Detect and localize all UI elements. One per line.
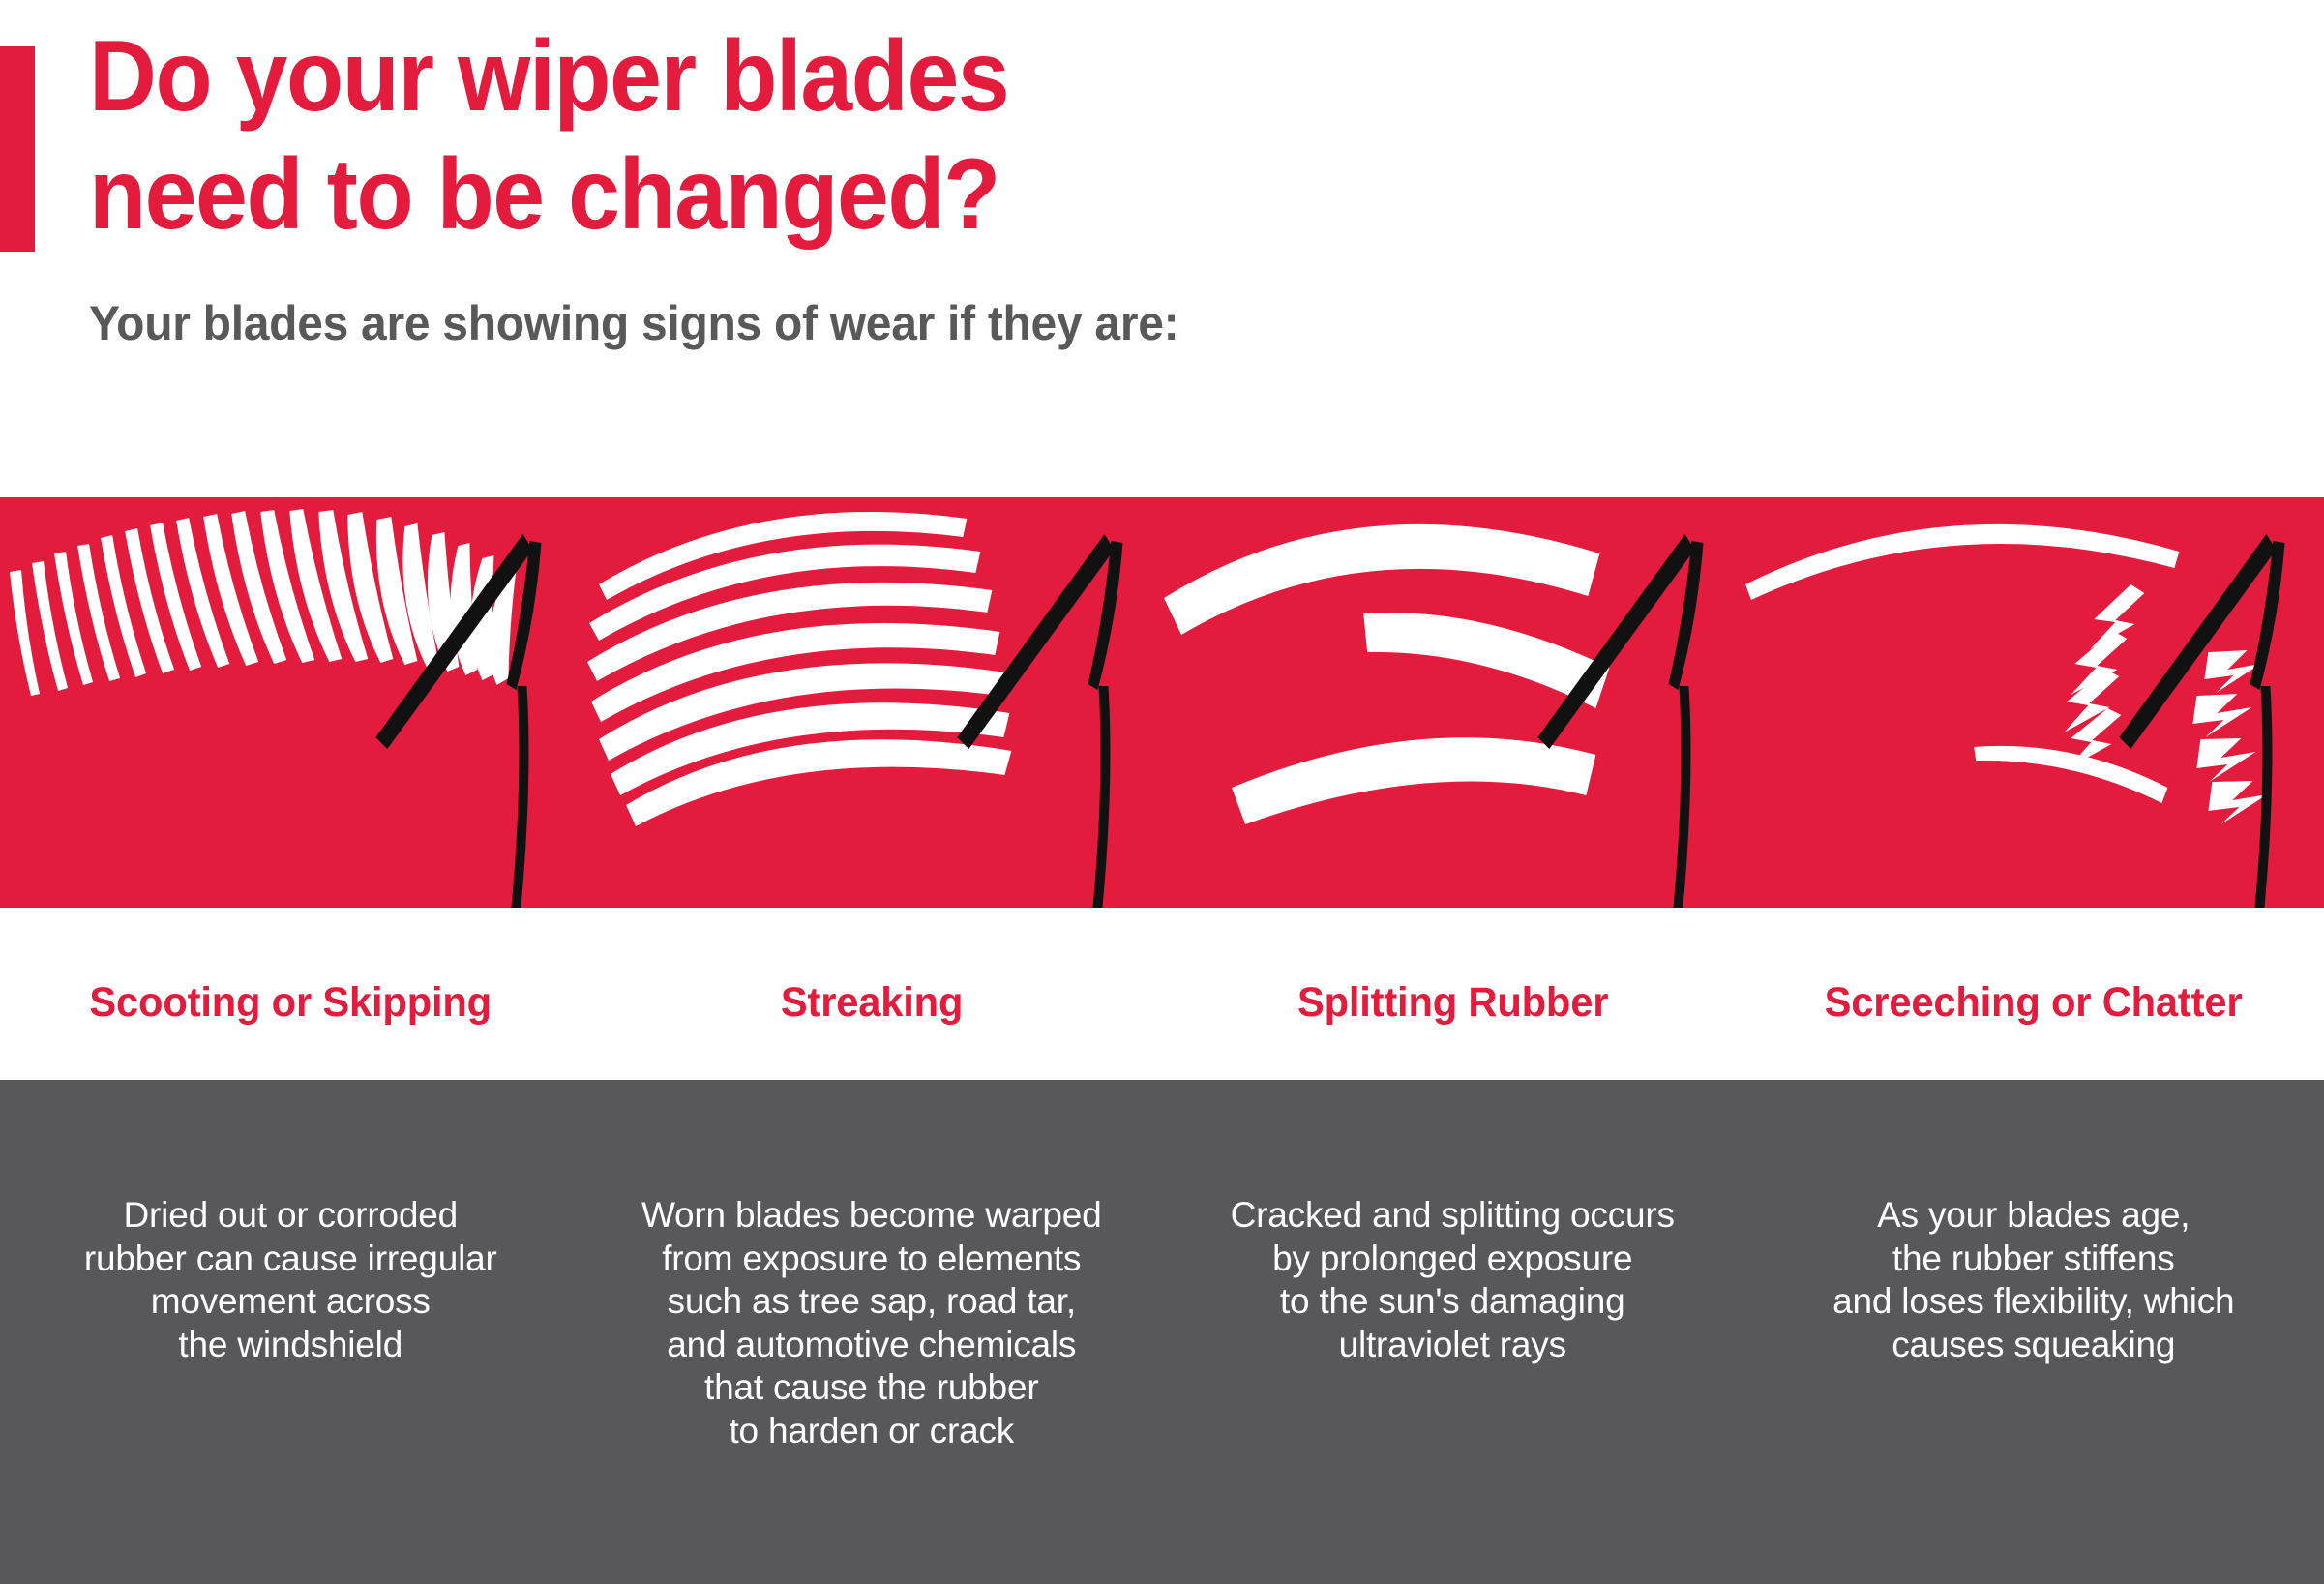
description-cell-screeching-or-chatter: As your blades age, the rubber stiffens … <box>1743 1080 2324 1584</box>
page-title: Do your wiper blades need to be changed? <box>89 17 1008 254</box>
illustration-splitting-rubber <box>1162 497 1743 908</box>
red-accent-bar <box>0 46 35 252</box>
page-subtitle: Your blades are showing signs of wear if… <box>89 295 1178 351</box>
description-streaking: Worn blades become warped from exposure … <box>641 1194 1102 1584</box>
illustration-streaking <box>581 497 1163 908</box>
infographic-page: Do your wiper blades need to be changed?… <box>0 0 2324 1584</box>
label-cell-screeching-or-chatter: Screeching or Chatter <box>1743 908 2324 1080</box>
label-streaking: Streaking <box>781 979 963 1027</box>
description-screeching-or-chatter: As your blades age, the rubber stiffens … <box>1832 1194 2234 1584</box>
illustration-screeching-or-chatter <box>1743 497 2324 908</box>
label-cell-scooting-or-skipping: Scooting or Skipping <box>0 908 581 1080</box>
description-scooting-or-skipping: Dried out or corroded rubber can cause i… <box>84 1194 497 1584</box>
illustration-scooting-or-skipping <box>0 497 581 908</box>
description-band: Dried out or corroded rubber can cause i… <box>0 1080 2324 1584</box>
label-screeching-or-chatter: Screeching or Chatter <box>1825 979 2243 1027</box>
header-section: Do your wiper blades need to be changed?… <box>0 0 2324 497</box>
description-cell-scooting-or-skipping: Dried out or corroded rubber can cause i… <box>0 1080 581 1584</box>
description-splitting-rubber: Cracked and splitting occurs by prolonge… <box>1231 1194 1675 1584</box>
thick-arcs-icon <box>1162 497 1743 908</box>
radial-streaks-icon <box>0 497 581 908</box>
label-strip: Scooting or Skipping Streaking Splitting… <box>0 908 2324 1080</box>
label-splitting-rubber: Splitting Rubber <box>1297 979 1608 1027</box>
description-cell-splitting-rubber: Cracked and splitting occurs by prolonge… <box>1162 1080 1743 1584</box>
lightning-bolts-icon <box>1743 497 2324 908</box>
label-cell-streaking: Streaking <box>581 908 1163 1080</box>
description-cell-streaking: Worn blades become warped from exposure … <box>581 1080 1163 1584</box>
label-cell-splitting-rubber: Splitting Rubber <box>1162 908 1743 1080</box>
arc-streaks-icon <box>581 497 1163 908</box>
illustration-band <box>0 497 2324 908</box>
label-scooting-or-skipping: Scooting or Skipping <box>89 979 492 1027</box>
